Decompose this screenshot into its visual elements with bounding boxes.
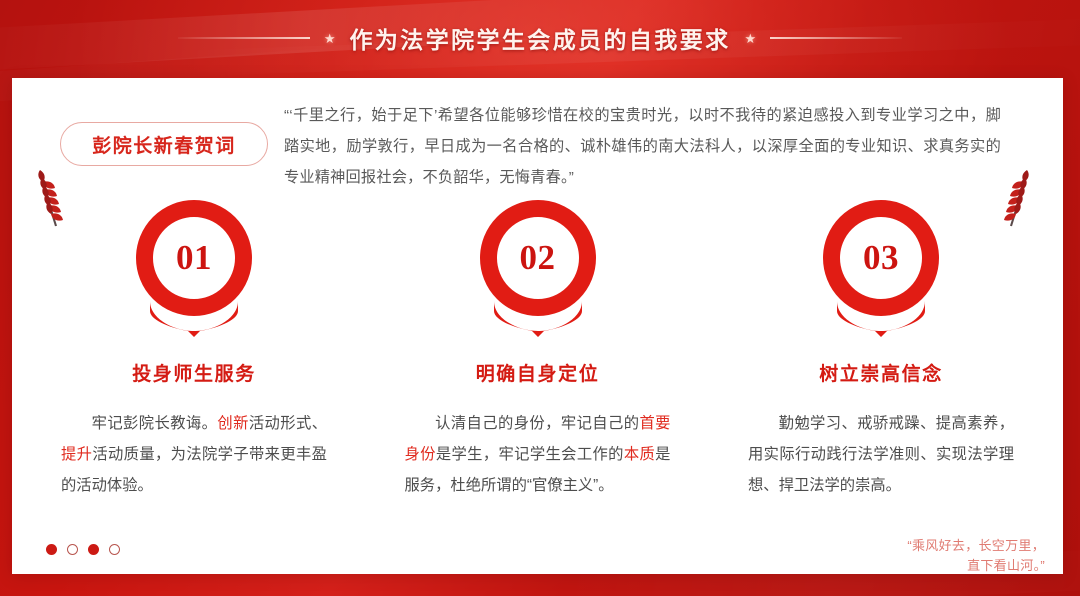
header-rule-left	[178, 37, 310, 39]
points-list: 01 投身师生服务 牢记彭院长教诲。创新活动形式、提升活动质量，为法院学子带来更…	[44, 200, 1031, 501]
list-item: 01 投身师生服务 牢记彭院长教诲。创新活动形式、提升活动质量，为法院学子带来更…	[44, 200, 344, 501]
list-item: 02 明确自身定位 认清自己的身份，牢记自己的首要身份是学生，牢记学生会工作的本…	[388, 200, 688, 501]
point-title: 明确自身定位	[476, 359, 600, 386]
number-badge: 02	[474, 200, 602, 337]
footer-quote-line: 直下看山河。”	[815, 556, 1045, 576]
list-item: 03 树立崇高信念 勤勉学习、戒骄戒躁、提高素养，用实际行动践行法学准则、实现法…	[731, 200, 1031, 501]
pagination-dot[interactable]	[67, 544, 78, 555]
footer-quote: “乘风好去，长空万里， 直下看山河。”	[815, 536, 1045, 576]
pagination-dot[interactable]	[109, 544, 120, 555]
badge-ribbon-icon	[474, 297, 602, 337]
greeting-text: “‘千里之行，始于足下’希望各位能够珍惜在校的宝贵时光，以时不我待的紧迫感投入到…	[284, 100, 1001, 193]
point-title: 投身师生服务	[132, 359, 256, 386]
number-badge: 01	[130, 200, 258, 337]
pagination-dot[interactable]	[88, 544, 99, 555]
point-body: 牢记彭院长教诲。创新活动形式、提升活动质量，为法院学子带来更丰盈的活动体验。	[61, 408, 327, 501]
number-badge: 03	[817, 200, 945, 337]
star-icon: ★	[745, 32, 757, 45]
slide-root: ★ 作为法学院学生会成员的自我要求 ★	[0, 0, 1080, 596]
content-card: 彭院长新春贺词 “‘千里之行，始于足下’希望各位能够珍惜在校的宝贵时光，以时不我…	[12, 78, 1063, 574]
slide-header: ★ 作为法学院学生会成员的自我要求 ★	[0, 18, 1080, 58]
badge-ribbon-icon	[130, 297, 258, 337]
star-icon: ★	[324, 32, 336, 45]
badge-ribbon-icon	[817, 297, 945, 337]
point-title: 树立崇高信念	[819, 359, 943, 386]
header-rule-right	[770, 37, 902, 39]
pagination-dot[interactable]	[46, 544, 57, 555]
greeting-section: 彭院长新春贺词 “‘千里之行，始于足下’希望各位能够珍惜在校的宝贵时光，以时不我…	[12, 100, 1063, 193]
page-title: 作为法学院学生会成员的自我要求	[350, 21, 731, 55]
point-body: 认清自己的身份，牢记自己的首要身份是学生，牢记学生会工作的本质是服务，杜绝所谓的…	[405, 408, 671, 501]
greeting-badge: 彭院长新春贺词	[60, 122, 268, 166]
pagination-dots[interactable]	[46, 544, 120, 555]
footer-quote-line: “乘风好去，长空万里，	[815, 536, 1045, 556]
point-body: 勤勉学习、戒骄戒躁、提高素养，用实际行动践行法学准则、实现法学理想、捍卫法学的崇…	[748, 408, 1014, 501]
